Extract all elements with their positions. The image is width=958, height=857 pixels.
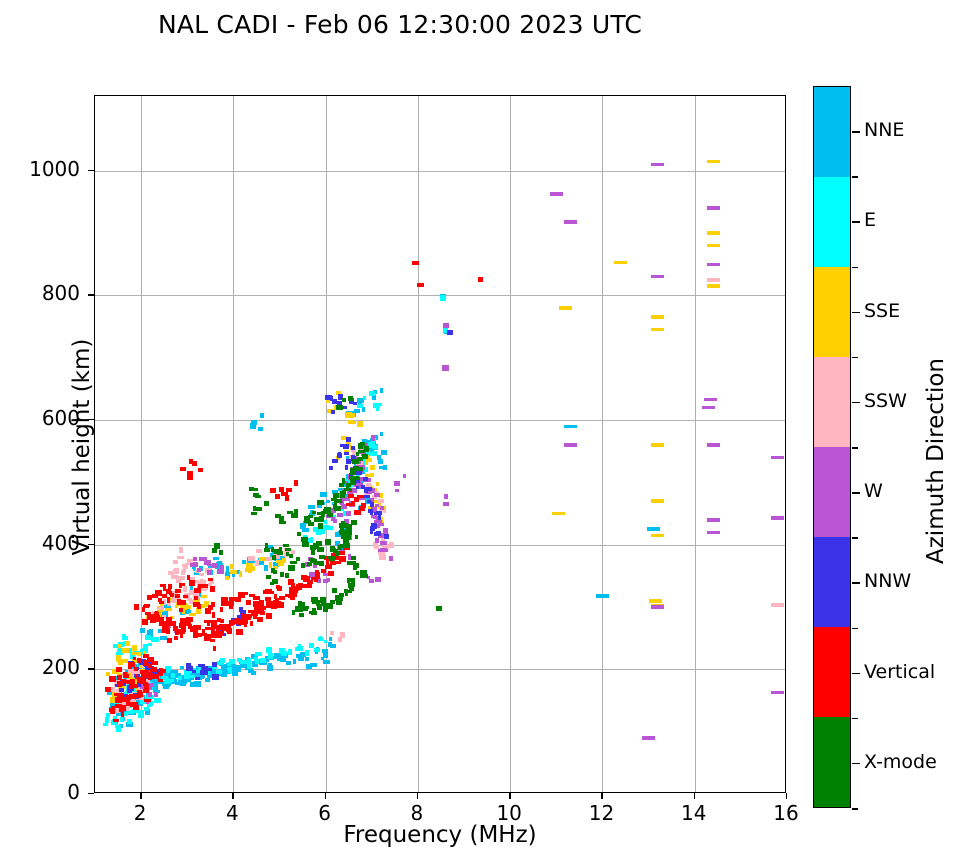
data-point-vertical bbox=[207, 622, 210, 626]
data-point-e bbox=[376, 407, 379, 411]
data-point-e bbox=[165, 666, 171, 671]
data-point-sse bbox=[707, 284, 720, 288]
data-point-x-mode bbox=[312, 601, 318, 604]
data-point-x-mode bbox=[316, 541, 322, 546]
data-point-w bbox=[380, 506, 384, 510]
data-point-e bbox=[220, 658, 225, 663]
data-point-vertical bbox=[160, 584, 166, 587]
data-point-vertical bbox=[166, 628, 170, 632]
data-point-w bbox=[642, 736, 655, 740]
data-point-nnw bbox=[346, 437, 351, 442]
data-point-vertical bbox=[246, 600, 251, 605]
x-axis-tick bbox=[601, 793, 602, 799]
data-point-vertical bbox=[147, 657, 151, 662]
colorbar-boundary-tick bbox=[852, 447, 858, 449]
data-point-vertical bbox=[189, 580, 195, 586]
data-point-x-mode bbox=[317, 604, 321, 610]
data-point-nnw bbox=[208, 668, 212, 671]
data-point-vertical bbox=[361, 503, 366, 508]
data-point-e bbox=[329, 526, 333, 530]
data-point-vertical bbox=[220, 631, 224, 636]
data-point-nne bbox=[280, 657, 286, 662]
data-point-sse bbox=[110, 697, 115, 703]
data-point-sse bbox=[230, 570, 237, 574]
data-point-w bbox=[707, 443, 720, 447]
data-point-nne bbox=[380, 432, 383, 436]
data-point-ssw bbox=[199, 573, 204, 576]
colorbar-segment-ssw[interactable] bbox=[814, 357, 850, 447]
data-point-vertical bbox=[229, 605, 233, 609]
data-point-e bbox=[116, 726, 121, 732]
data-point-vertical bbox=[169, 591, 172, 595]
data-point-w bbox=[204, 557, 207, 562]
data-point-vertical bbox=[110, 710, 115, 714]
data-point-nne bbox=[362, 407, 365, 412]
data-point-nne bbox=[249, 670, 254, 673]
data-point-w bbox=[217, 569, 224, 574]
data-point-x-mode bbox=[286, 552, 289, 556]
data-point-vertical bbox=[211, 602, 215, 607]
data-point-sse bbox=[116, 658, 120, 662]
data-point-sse bbox=[126, 648, 129, 653]
data-point-x-mode bbox=[255, 507, 262, 511]
data-point-vertical bbox=[220, 607, 223, 612]
data-point-x-mode bbox=[323, 597, 326, 602]
data-point-ssw bbox=[179, 547, 183, 553]
data-point-nnw bbox=[345, 465, 348, 470]
data-point-w bbox=[707, 206, 720, 210]
data-point-x-mode bbox=[340, 528, 344, 532]
data-point-e bbox=[178, 676, 182, 680]
data-point-x-mode bbox=[301, 563, 305, 568]
data-point-x-mode bbox=[348, 583, 352, 588]
data-point-x-mode bbox=[346, 535, 351, 540]
data-point-vertical bbox=[276, 585, 280, 589]
data-point-vertical bbox=[155, 590, 162, 596]
data-point-e bbox=[310, 537, 313, 543]
data-point-nne bbox=[305, 657, 309, 661]
data-point-e bbox=[164, 678, 169, 684]
data-point-e bbox=[103, 723, 108, 726]
data-point-sse bbox=[651, 443, 664, 447]
x-axis-tick bbox=[140, 793, 141, 799]
data-point-e bbox=[305, 650, 309, 656]
data-point-e bbox=[154, 698, 161, 703]
x-axis-tick bbox=[232, 793, 233, 799]
colorbar-tick bbox=[852, 402, 860, 404]
data-point-vertical bbox=[246, 616, 251, 620]
data-point-vertical bbox=[208, 578, 213, 581]
data-point-nne bbox=[260, 413, 264, 418]
data-point-vertical bbox=[194, 596, 198, 600]
data-point-x-mode bbox=[249, 487, 254, 491]
y-axis-tick-label: 1000 bbox=[0, 157, 80, 181]
data-point-nnw bbox=[370, 502, 374, 507]
data-point-w bbox=[374, 493, 380, 497]
data-point-vertical bbox=[328, 571, 334, 576]
data-point-w bbox=[403, 474, 406, 478]
data-point-nne bbox=[596, 594, 609, 598]
data-point-w bbox=[197, 568, 201, 572]
data-point-x-mode bbox=[289, 554, 293, 558]
data-point-x-mode bbox=[348, 396, 353, 401]
data-point-vertical bbox=[179, 608, 183, 612]
colorbar-segment-w[interactable] bbox=[814, 447, 850, 537]
data-point-x-mode bbox=[275, 514, 281, 518]
data-point-nnw bbox=[363, 477, 368, 481]
data-point-w bbox=[707, 263, 720, 267]
data-point-vertical bbox=[147, 595, 152, 600]
x-axis-tick bbox=[417, 793, 418, 799]
data-point-sse bbox=[259, 557, 266, 561]
data-point-sse bbox=[357, 421, 363, 427]
data-point-vertical bbox=[279, 596, 285, 600]
colorbar-tick bbox=[852, 492, 860, 494]
data-point-vertical bbox=[142, 619, 148, 625]
data-point-nnw bbox=[331, 410, 335, 414]
data-point-w bbox=[154, 692, 158, 697]
data-point-x-mode bbox=[348, 590, 352, 593]
data-point-vertical bbox=[279, 602, 284, 608]
data-point-nnw bbox=[364, 495, 370, 498]
data-point-vertical bbox=[180, 467, 186, 471]
data-point-x-mode bbox=[353, 466, 359, 471]
data-point-e bbox=[363, 396, 366, 400]
data-point-vertical bbox=[152, 667, 157, 672]
data-point-e bbox=[184, 673, 190, 679]
data-point-sse bbox=[248, 569, 252, 573]
data-point-vertical bbox=[212, 612, 215, 618]
data-point-x-mode bbox=[340, 491, 343, 496]
data-point-sse bbox=[651, 499, 664, 503]
data-point-x-mode bbox=[291, 513, 298, 518]
colorbar-boundary-tick bbox=[852, 808, 858, 810]
data-point-w bbox=[444, 494, 448, 499]
data-point-nnw bbox=[119, 688, 124, 692]
data-point-x-mode bbox=[302, 608, 308, 611]
data-point-sse bbox=[239, 571, 242, 577]
data-point-nne bbox=[264, 565, 268, 571]
data-point-x-mode bbox=[353, 567, 357, 570]
data-point-sse bbox=[370, 473, 374, 477]
colorbar-tick bbox=[852, 763, 860, 765]
y-axis-tick-label: 0 bbox=[0, 780, 80, 804]
data-point-w bbox=[704, 398, 717, 402]
colorbar-label-ssw: SSW bbox=[864, 390, 907, 412]
data-point-w bbox=[702, 406, 715, 410]
x-axis-tick bbox=[786, 793, 787, 799]
data-point-vertical bbox=[131, 663, 134, 667]
data-point-nnw bbox=[376, 531, 381, 536]
data-point-w bbox=[651, 163, 664, 167]
data-point-sse bbox=[351, 421, 356, 424]
colorbar-segment-nne[interactable] bbox=[814, 87, 850, 177]
colorbar-tick bbox=[852, 582, 860, 584]
colorbar-boundary-tick bbox=[852, 718, 858, 720]
data-point-nne bbox=[322, 649, 328, 653]
data-point-x-mode bbox=[354, 476, 359, 480]
data-point-vertical bbox=[111, 706, 115, 710]
data-point-vertical bbox=[253, 616, 257, 619]
data-point-ssw bbox=[378, 499, 384, 503]
data-point-x-mode bbox=[298, 602, 305, 608]
data-point-x-mode bbox=[350, 481, 356, 485]
colorbar-title: Azimuth Direction bbox=[923, 211, 949, 711]
colorbar-segment-nnw[interactable] bbox=[814, 537, 850, 627]
data-point-nne bbox=[330, 644, 336, 648]
data-point-x-mode bbox=[308, 522, 314, 526]
grid-line-horizontal bbox=[95, 545, 785, 546]
data-point-nnw bbox=[344, 452, 349, 455]
data-point-e bbox=[297, 646, 303, 651]
data-point-vertical bbox=[183, 595, 188, 598]
data-point-ssw bbox=[182, 569, 186, 573]
data-point-w bbox=[707, 518, 720, 522]
x-axis-label: Frequency (MHz) bbox=[94, 822, 786, 848]
data-point-e bbox=[144, 707, 149, 711]
data-point-nnw bbox=[447, 330, 453, 335]
data-point-sse bbox=[707, 244, 720, 248]
data-point-sse bbox=[188, 605, 191, 609]
data-point-vertical bbox=[244, 623, 247, 627]
data-point-nne bbox=[166, 684, 170, 687]
data-point-x-mode bbox=[336, 405, 343, 410]
data-point-nne bbox=[242, 560, 246, 564]
data-point-sse bbox=[614, 261, 627, 265]
data-point-x-mode bbox=[342, 398, 346, 402]
data-point-vertical bbox=[187, 471, 193, 475]
data-point-vertical bbox=[304, 576, 308, 579]
data-point-ssw bbox=[173, 569, 179, 573]
colorbar-label-w: W bbox=[864, 480, 883, 502]
data-point-vertical bbox=[291, 593, 297, 597]
colorbar-label-sse: SSE bbox=[864, 300, 900, 322]
data-point-vertical bbox=[266, 613, 272, 619]
data-point-x-mode bbox=[285, 573, 289, 578]
data-point-x-mode bbox=[364, 446, 369, 452]
data-point-ssw bbox=[707, 278, 720, 282]
data-point-e bbox=[255, 659, 259, 664]
data-point-e bbox=[440, 295, 446, 301]
data-point-x-mode bbox=[317, 500, 324, 505]
data-point-vertical bbox=[187, 475, 193, 480]
data-point-x-mode bbox=[264, 548, 270, 552]
data-point-vertical bbox=[265, 589, 270, 592]
data-point-vertical bbox=[109, 676, 116, 682]
grid-line-vertical bbox=[510, 96, 511, 792]
data-point-sse bbox=[112, 669, 116, 674]
data-point-ssw bbox=[330, 631, 334, 635]
data-point-x-mode bbox=[362, 454, 368, 459]
data-point-sse bbox=[132, 645, 137, 651]
data-point-nne bbox=[326, 500, 330, 503]
data-point-x-mode bbox=[302, 542, 309, 547]
data-point-x-mode bbox=[332, 588, 337, 593]
data-point-x-mode bbox=[254, 488, 258, 491]
data-point-nne bbox=[286, 661, 291, 665]
data-point-x-mode bbox=[325, 539, 331, 545]
data-point-w bbox=[337, 513, 343, 517]
data-point-w bbox=[395, 489, 399, 492]
data-point-sse bbox=[182, 610, 185, 614]
data-point-vertical bbox=[250, 621, 253, 626]
data-point-vertical bbox=[257, 617, 263, 622]
data-point-vertical bbox=[285, 495, 289, 501]
data-point-x-mode bbox=[297, 532, 301, 536]
data-point-x-mode bbox=[299, 613, 304, 617]
colorbar-segment-vertical[interactable] bbox=[814, 627, 850, 717]
data-point-vertical bbox=[229, 620, 235, 625]
colorbar-boundary-tick bbox=[852, 357, 858, 359]
data-point-vertical bbox=[197, 604, 201, 608]
data-point-sse bbox=[345, 412, 352, 418]
data-point-vertical bbox=[180, 634, 183, 638]
data-point-w bbox=[378, 523, 384, 526]
data-point-ssw bbox=[256, 549, 262, 553]
colorbar-label-nnw: NNW bbox=[864, 570, 911, 592]
data-point-x-mode bbox=[253, 493, 259, 497]
data-point-vertical bbox=[205, 608, 211, 614]
data-point-vertical bbox=[357, 495, 364, 498]
x-axis-tick bbox=[509, 793, 510, 799]
data-point-vertical bbox=[198, 468, 203, 472]
data-point-ssw bbox=[177, 556, 184, 559]
data-point-vertical bbox=[132, 684, 138, 688]
colorbar-segment-sse[interactable] bbox=[814, 267, 850, 357]
data-point-vertical bbox=[147, 664, 152, 668]
data-point-w bbox=[707, 531, 720, 535]
data-point-nne bbox=[267, 665, 273, 671]
data-point-nnw bbox=[365, 487, 372, 491]
data-point-vertical bbox=[167, 597, 170, 603]
data-point-vertical bbox=[315, 570, 319, 575]
data-point-vertical bbox=[197, 626, 200, 630]
data-point-x-mode bbox=[347, 561, 351, 565]
data-point-vertical bbox=[143, 605, 149, 608]
data-point-nnw bbox=[343, 444, 349, 449]
data-point-sse bbox=[552, 512, 565, 516]
data-point-x-mode bbox=[319, 555, 325, 559]
data-point-x-mode bbox=[346, 484, 349, 490]
data-point-x-mode bbox=[309, 611, 315, 614]
data-point-w bbox=[369, 579, 374, 583]
data-point-vertical bbox=[136, 694, 141, 698]
data-point-nnw bbox=[351, 446, 355, 450]
data-point-x-mode bbox=[339, 483, 344, 487]
data-point-e bbox=[228, 667, 232, 673]
data-point-nnw bbox=[329, 466, 333, 470]
data-point-w bbox=[564, 443, 577, 447]
data-point-x-mode bbox=[355, 535, 358, 539]
y-axis-tick-label: 200 bbox=[0, 655, 80, 679]
data-point-x-mode bbox=[349, 476, 353, 479]
data-point-vertical bbox=[168, 584, 172, 589]
data-point-vertical bbox=[133, 705, 139, 710]
data-point-nne bbox=[226, 566, 229, 572]
data-point-nne bbox=[258, 427, 263, 431]
colorbar-boundary-tick bbox=[852, 537, 858, 539]
data-point-vertical bbox=[213, 646, 216, 651]
x-axis-tick bbox=[694, 793, 695, 799]
data-point-x-mode bbox=[314, 517, 320, 522]
data-point-w bbox=[383, 549, 388, 552]
data-point-vertical bbox=[159, 668, 163, 671]
colorbar-tick bbox=[852, 312, 860, 314]
data-point-vertical bbox=[346, 503, 351, 506]
data-point-nnw bbox=[332, 459, 338, 463]
data-point-x-mode bbox=[337, 499, 342, 503]
data-point-vertical bbox=[158, 679, 163, 682]
data-point-vertical bbox=[123, 674, 129, 678]
data-point-w bbox=[771, 456, 784, 460]
data-point-x-mode bbox=[360, 575, 364, 578]
data-point-nne bbox=[194, 681, 201, 687]
data-point-e bbox=[319, 636, 322, 640]
data-point-ssw bbox=[249, 556, 253, 560]
data-point-w bbox=[442, 365, 449, 371]
colorbar-segment-e[interactable] bbox=[814, 177, 850, 267]
data-point-vertical bbox=[126, 680, 132, 684]
data-point-vertical bbox=[182, 621, 187, 626]
data-point-vertical bbox=[193, 633, 198, 638]
data-point-vertical bbox=[236, 629, 243, 635]
data-point-vertical bbox=[259, 600, 264, 605]
data-point-e bbox=[237, 658, 241, 662]
data-point-vertical bbox=[187, 575, 190, 580]
data-point-x-mode bbox=[348, 578, 351, 582]
data-point-nne bbox=[205, 678, 210, 682]
data-point-e bbox=[148, 643, 152, 646]
data-point-e bbox=[324, 520, 327, 524]
data-point-w bbox=[193, 557, 197, 561]
data-point-vertical bbox=[210, 639, 215, 642]
data-point-sse bbox=[707, 160, 720, 164]
colorbar-segment-x-mode[interactable] bbox=[814, 717, 850, 807]
page-title: NAL CADI - Feb 06 12:30:00 2023 UTC bbox=[0, 10, 800, 39]
data-point-w bbox=[327, 578, 330, 582]
colorbar-boundary-tick bbox=[852, 267, 858, 269]
data-point-w bbox=[550, 192, 563, 196]
data-point-vertical bbox=[275, 494, 280, 499]
data-point-vertical bbox=[105, 687, 111, 692]
data-point-x-mode bbox=[351, 578, 355, 584]
colorbar-label-e: E bbox=[864, 209, 876, 231]
data-point-vertical bbox=[144, 699, 151, 702]
data-point-vertical bbox=[219, 624, 222, 630]
data-point-w bbox=[212, 563, 218, 568]
data-point-x-mode bbox=[219, 550, 223, 555]
data-point-vertical bbox=[294, 480, 298, 486]
colorbar-tick bbox=[852, 673, 860, 675]
data-point-e bbox=[376, 403, 382, 406]
data-point-x-mode bbox=[272, 555, 276, 560]
colorbar-label-nne: NNE bbox=[864, 119, 904, 141]
data-point-nne bbox=[140, 628, 145, 633]
data-point-sse bbox=[370, 465, 375, 470]
data-point-vertical bbox=[281, 492, 288, 496]
data-point-vertical bbox=[217, 618, 221, 622]
data-point-x-mode bbox=[436, 606, 442, 611]
data-point-vertical bbox=[270, 488, 276, 493]
data-point-vertical bbox=[162, 594, 167, 598]
data-point-vertical bbox=[260, 611, 265, 615]
data-point-vertical bbox=[417, 283, 424, 287]
data-point-vertical bbox=[279, 487, 284, 492]
data-point-nne bbox=[323, 660, 330, 664]
data-point-x-mode bbox=[264, 501, 269, 506]
data-point-nne bbox=[320, 492, 327, 497]
data-point-nne bbox=[647, 527, 660, 531]
